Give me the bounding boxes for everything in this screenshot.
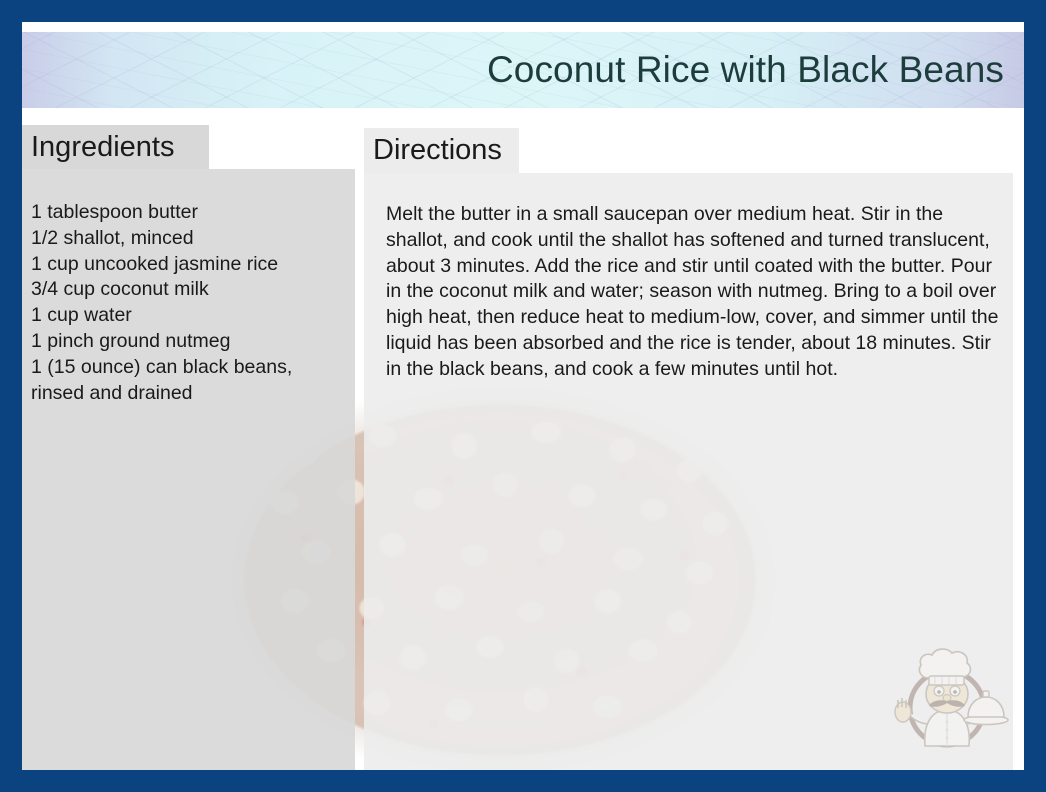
- list-item: 1/2 shallot, minced: [31, 226, 345, 252]
- recipe-title: Coconut Rice with Black Beans: [487, 49, 1024, 91]
- title-banner: Coconut Rice with Black Beans: [22, 32, 1024, 108]
- list-item: rinsed and drained: [31, 381, 345, 407]
- directions-body: Melt the butter in a small saucepan over…: [386, 202, 1001, 383]
- ingredients-panel: 1 tablespoon butter 1/2 shallot, minced …: [22, 169, 355, 770]
- list-item: 1 cup uncooked jasmine rice: [31, 252, 345, 278]
- directions-heading: Directions: [364, 128, 519, 173]
- ingredients-heading: Ingredients: [22, 125, 209, 169]
- list-item: 1 (15 ounce) can black beans,: [31, 355, 345, 381]
- chef-logo: [888, 638, 1010, 758]
- recipe-card-inner: Coconut Rice with Black Beans Ingredient…: [22, 22, 1024, 770]
- list-item: 3/4 cup coconut milk: [31, 277, 345, 303]
- list-item: 1 cup water: [31, 303, 345, 329]
- list-item: 1 pinch ground nutmeg: [31, 329, 345, 355]
- list-item: 1 tablespoon butter: [31, 200, 345, 226]
- recipe-card-frame: Coconut Rice with Black Beans Ingredient…: [0, 0, 1046, 792]
